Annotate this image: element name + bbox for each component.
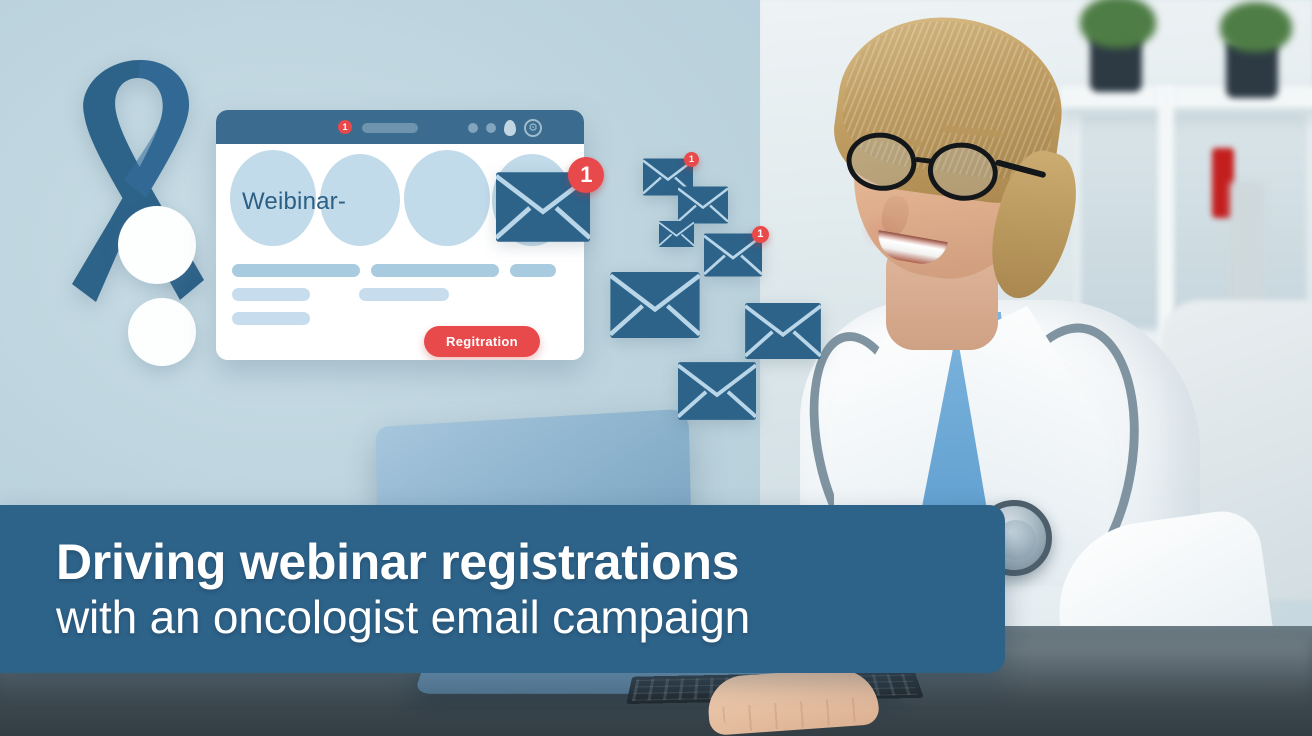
- placeholder-bar: [232, 312, 310, 325]
- envelope-small-1-badge: 1: [684, 152, 699, 167]
- gear-icon[interactable]: ⚙: [524, 119, 542, 137]
- envelope-mid-2-icon: [745, 303, 821, 359]
- placeholder-bar: [510, 264, 556, 277]
- envelope-small-4-icon: 1: [704, 233, 762, 277]
- placeholder-bar: [232, 288, 310, 301]
- placeholder-bar: [232, 264, 360, 277]
- envelope-main-icon: 1: [496, 172, 590, 242]
- titlebar-dot-1[interactable]: [468, 123, 478, 133]
- titlebar-drop-icon: [504, 120, 516, 136]
- lens-left: [843, 129, 920, 195]
- headline-banner: Driving webinar registrations with an on…: [0, 505, 1005, 673]
- titlebar-dot-2[interactable]: [486, 123, 496, 133]
- white-circle-2: [128, 298, 196, 366]
- envelope-small-4-badge: 1: [752, 226, 769, 243]
- decor-blob-3: [404, 150, 490, 246]
- envelope-small-3-icon: [659, 221, 694, 247]
- registration-button[interactable]: Regitration: [424, 326, 540, 357]
- titlebar-notification-badge: 1: [338, 120, 352, 134]
- placeholder-bar: [371, 264, 499, 277]
- glasses-bridge: [915, 157, 935, 164]
- placeholder-row: [232, 312, 572, 325]
- awareness-ribbon-icon: [62, 52, 222, 342]
- browser-title-bar: 1 ⚙: [216, 110, 584, 144]
- envelope-mid-1-icon: [610, 272, 700, 338]
- lens-right: [925, 139, 1002, 205]
- envelope-mid-3-icon: [678, 362, 756, 420]
- placeholder-bar: [359, 288, 449, 301]
- hand-on-keyboard: [706, 666, 880, 736]
- mockup-page-title: Weibinar-: [242, 188, 346, 216]
- placeholder-row: [232, 264, 572, 277]
- gray-object: [1230, 182, 1264, 307]
- headline-line-2: with an oncologist email campaign: [56, 592, 965, 644]
- titlebar-address-pill[interactable]: [362, 123, 418, 133]
- headline-line-1: Driving webinar registrations: [56, 536, 965, 588]
- hero-image: 1 ⚙ Weibinar-: [0, 0, 1312, 736]
- envelope-main-badge: 1: [568, 157, 604, 193]
- white-circle-1: [118, 206, 196, 284]
- plant-leaf-right: [1220, 2, 1292, 52]
- envelope-small-2-icon: [678, 186, 728, 224]
- placeholder-row: [232, 288, 572, 301]
